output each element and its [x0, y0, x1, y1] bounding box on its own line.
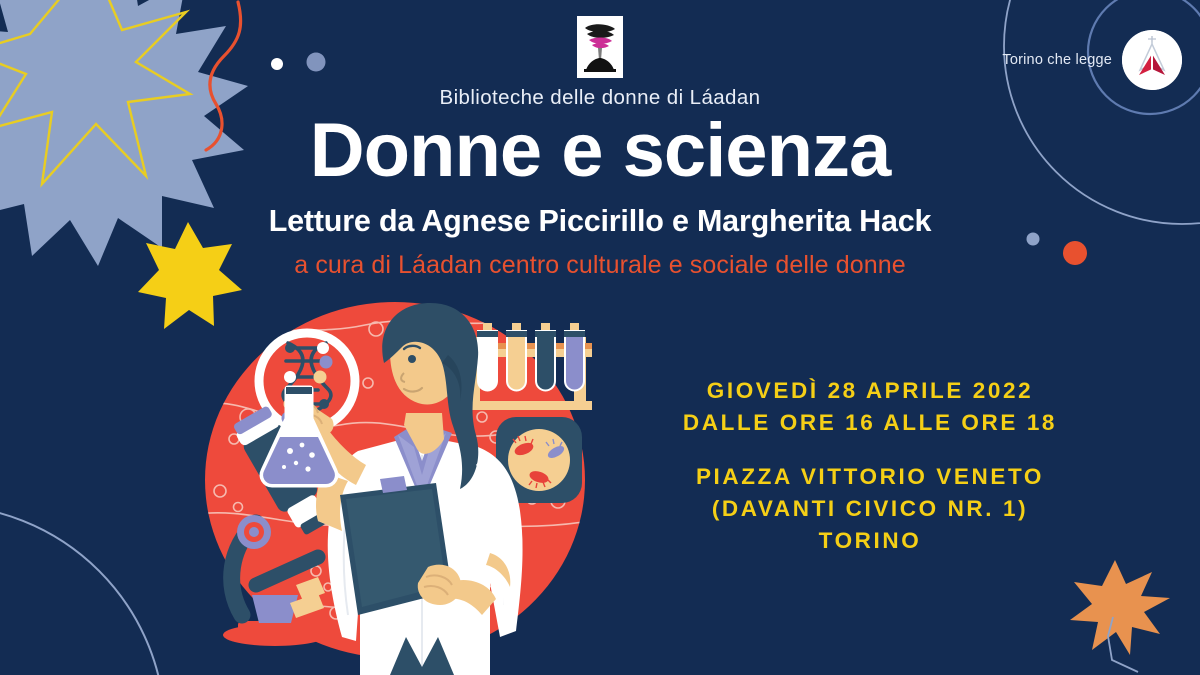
partner-label: Torino che legge [1002, 52, 1112, 68]
subtitle: Letture da Agnese Piccirillo e Margherit… [0, 204, 1200, 239]
event-details: GIOVEDÌ 28 APRILE 2022 DALLE ORE 16 ALLE… [620, 375, 1120, 557]
event-venue-detail: (DAVANTI CIVICO NR. 1) [620, 493, 1120, 525]
torino-che-legge-book-icon [1122, 30, 1182, 90]
thin-circle-arc-bottom-left-2 [0, 590, 10, 675]
event-date: GIOVEDÌ 28 APRILE 2022 [620, 375, 1120, 407]
laadan-logo-glyph [577, 16, 623, 78]
thin-circle-arc-bottom-left [0, 505, 165, 675]
page-title: Donne e scienza [0, 112, 1200, 190]
orange-star-bottom-right [1070, 560, 1170, 655]
laadan-library-logo [577, 16, 623, 78]
thin-line-bottom-right [1108, 617, 1138, 672]
partner-badge[interactable]: Torino che legge [1002, 30, 1182, 90]
details-spacer [620, 439, 1120, 461]
event-city: TORINO [620, 525, 1120, 557]
event-time: DALLE ORE 16 ALLE ORE 18 [620, 407, 1120, 439]
event-poster: Biblioteche delle donne di Láadan Torino… [0, 0, 1200, 675]
woman-scientist-illustration [190, 285, 600, 675]
title-block: Donne e scienza Letture da Agnese Piccir… [0, 112, 1200, 280]
curated-by-text: a cura di Láadan centro culturale e soci… [0, 251, 1200, 280]
event-venue: PIAZZA VITTORIO VENETO [620, 461, 1120, 493]
